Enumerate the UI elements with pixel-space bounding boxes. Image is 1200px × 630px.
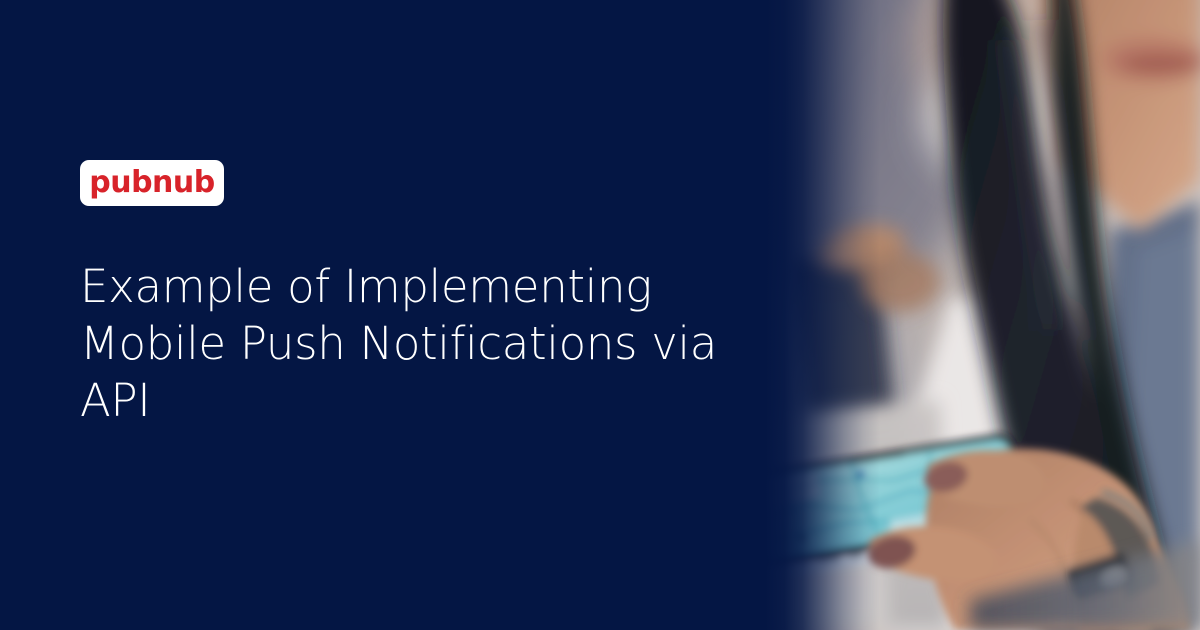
pubnub-logo-wordmark: pubnub — [89, 168, 215, 198]
page-title: Example of Implementing Mobile Push Noti… — [80, 258, 760, 429]
person-holding-phone-photo — [740, 0, 1200, 630]
card-content: pubnub Example of Implementing Mobile Pu… — [80, 0, 760, 630]
pubnub-logo[interactable]: pubnub — [80, 160, 224, 206]
page-title-text: Example of Implementing Mobile Push Noti… — [80, 260, 717, 427]
og-card: pubnub Example of Implementing Mobile Pu… — [0, 0, 1200, 630]
photo-illustration — [740, 0, 1200, 630]
